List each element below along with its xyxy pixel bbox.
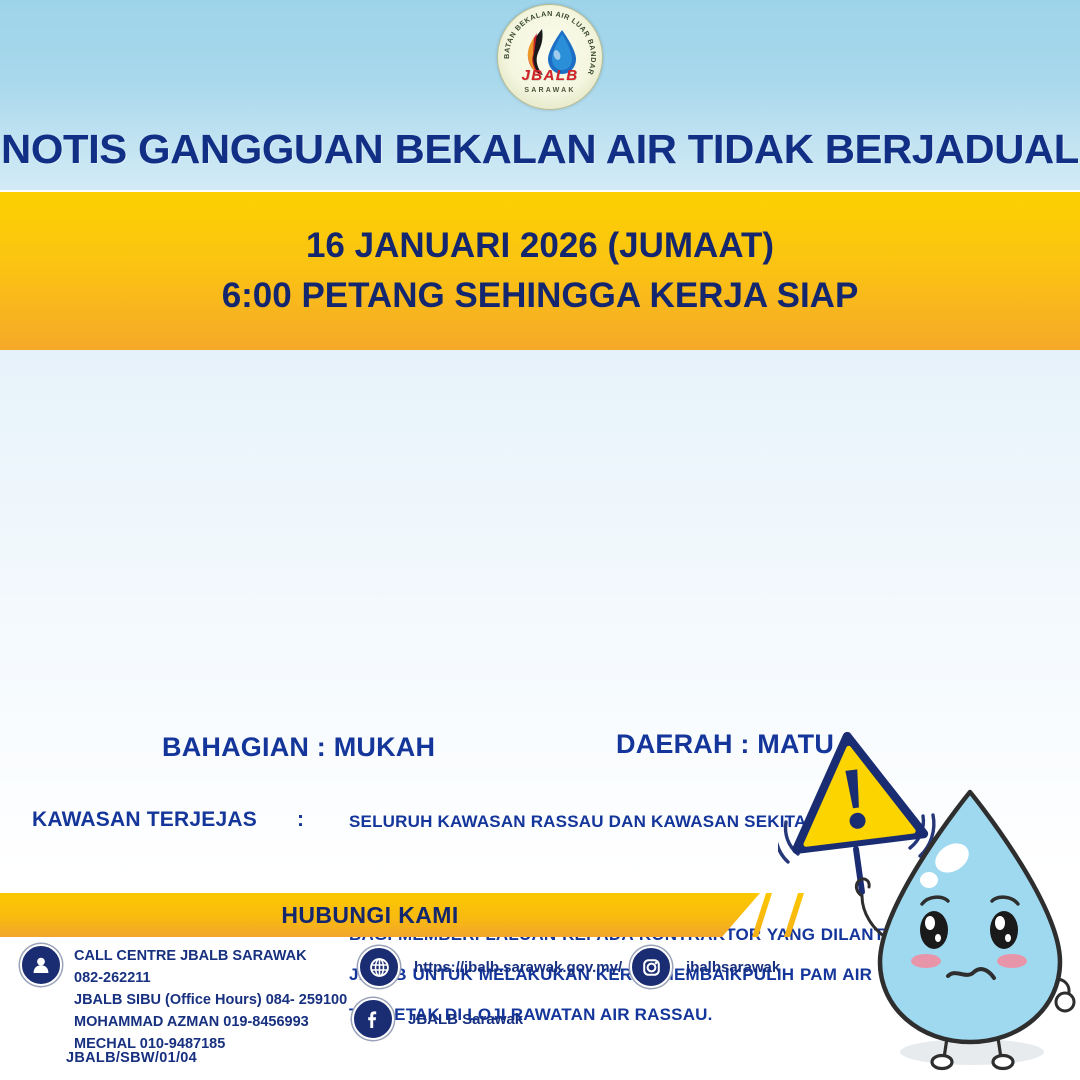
facebook-item[interactable]: JBALB Sarawak bbox=[352, 998, 523, 1040]
call-centre-lines: CALL CENTRE JBALB SARAWAK 082-262211 JBA… bbox=[74, 944, 347, 1055]
field-colon: : bbox=[297, 808, 304, 832]
call-centre-block: CALL CENTRE JBALB SARAWAK 082-262211 JBA… bbox=[20, 944, 360, 1055]
logo-subtext: SARAWAK bbox=[498, 87, 602, 94]
banner-stripe-1 bbox=[752, 893, 772, 937]
field-label: KAWASAN TERJEJAS bbox=[32, 808, 257, 832]
page-title: NOTIS GANGGUAN BEKALAN AIR TIDAK BERJADU… bbox=[0, 126, 1080, 173]
facebook-icon bbox=[352, 998, 394, 1040]
person-icon bbox=[20, 944, 62, 986]
call-centre-title: CALL CENTRE JBALB SARAWAK bbox=[74, 945, 347, 967]
banner-stripe-2 bbox=[784, 893, 804, 937]
logo-circle: JABATAN BEKALAN AIR LUAR BANDAR JBALB SA… bbox=[497, 4, 603, 110]
contact-banner: HUBUNGI KAMI bbox=[0, 893, 1080, 937]
website-item[interactable]: https://jbalb.sarawak.gov.my/ bbox=[358, 946, 622, 988]
contact-banner-title: HUBUNGI KAMI bbox=[0, 902, 740, 929]
jbalb-sibu-phone: JBALB SIBU (Office Hours) 084- 259100 bbox=[74, 989, 347, 1011]
instagram-handle: jbalbsarawak bbox=[686, 959, 780, 976]
jbalb-logo: JABATAN BEKALAN AIR LUAR BANDAR JBALB SA… bbox=[497, 4, 605, 108]
header-band: JABATAN BEKALAN AIR LUAR BANDAR JBALB SA… bbox=[0, 0, 1080, 190]
call-centre-item: CALL CENTRE JBALB SARAWAK 082-262211 JBA… bbox=[20, 944, 360, 1055]
call-centre-phone: 082-262211 bbox=[74, 967, 347, 989]
bahagian-label: BAHAGIAN : MUKAH bbox=[162, 732, 435, 763]
date-line-2: 6:00 PETANG SEHINGGA KERJA SIAP bbox=[222, 271, 859, 321]
website-url: https://jbalb.sarawak.gov.my/ bbox=[414, 959, 622, 976]
instagram-icon bbox=[630, 946, 672, 988]
facebook-handle: JBALB Sarawak bbox=[408, 1011, 523, 1028]
date-band: 16 JANUARI 2026 (JUMAAT) 6:00 PETANG SEH… bbox=[0, 192, 1080, 350]
globe-icon bbox=[358, 946, 400, 988]
instagram-item[interactable]: jbalbsarawak bbox=[630, 946, 780, 988]
date-line-1: 16 JANUARI 2026 (JUMAAT) bbox=[306, 221, 774, 271]
water-disruption-notice-poster: JABATAN BEKALAN AIR LUAR BANDAR JBALB SA… bbox=[0, 0, 1080, 1080]
reference-number: JBALB/SBW/01/04 bbox=[66, 1050, 197, 1066]
logo-wordmark: JBALB bbox=[498, 67, 602, 84]
contact-person-azman: MOHAMMAD AZMAN 019-8456993 bbox=[74, 1011, 347, 1033]
